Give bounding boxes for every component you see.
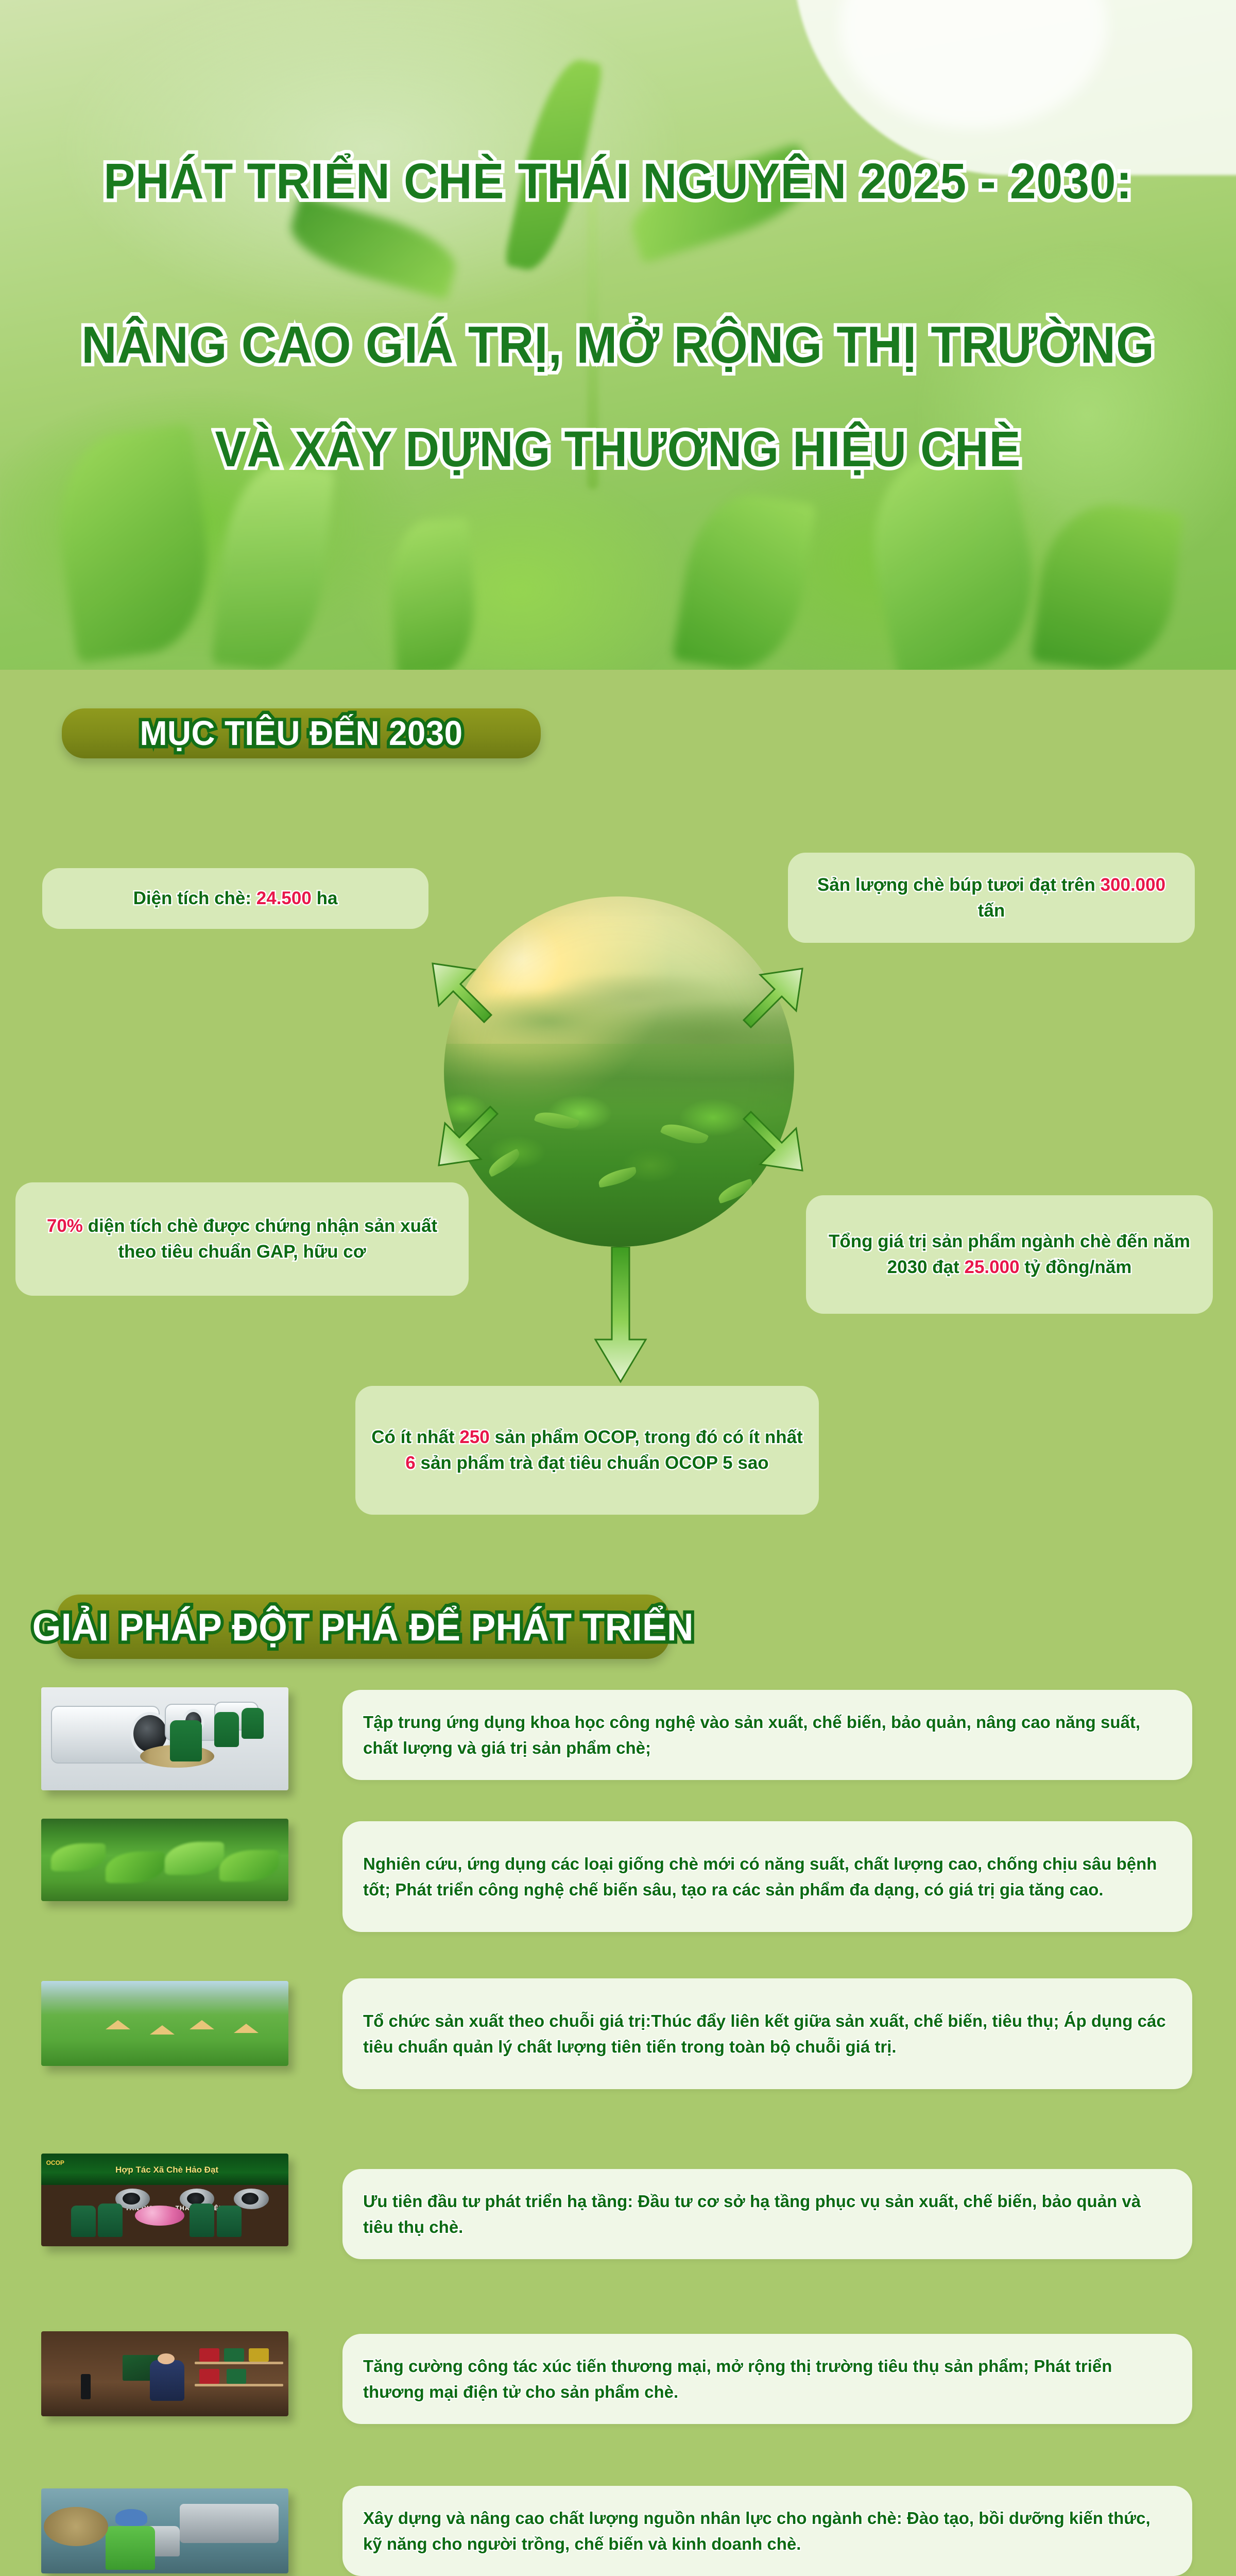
solution-card: Xây dựng và nâng cao chất lượng nguồn nh… — [342, 2486, 1192, 2576]
solution-text: Xây dựng và nâng cao chất lượng nguồn nh… — [363, 2505, 1172, 2556]
factory-worker — [214, 1712, 239, 1747]
solution-text: Tổ chức sản xuất theo chuỗi giá trị:Thúc… — [363, 2008, 1172, 2059]
goal-card-gap-text: 70% diện tích chè được chứng nhận sản xu… — [29, 1213, 455, 1264]
tea-product-box — [227, 2369, 246, 2384]
thumb-worker-tea-processing — [41, 2488, 288, 2573]
goal-card-ocop: Có ít nhất 250 sản phẩm OCOP, trong đó c… — [355, 1386, 819, 1515]
coop-worker — [98, 2204, 123, 2237]
coop-worker — [217, 2206, 242, 2237]
hero-title-line-2: NÂNG CAO GIÁ TRỊ, MỞ RỘNG THỊ TRƯỜNG — [37, 316, 1199, 375]
processing-machine — [180, 2504, 279, 2543]
conical-hat — [190, 2020, 214, 2029]
thumb-livestream-tea-shop — [41, 2331, 288, 2416]
cooperative-photo: OCOP Hợp Tác Xã Chè Hảo Đạt TÂN CƯƠNG - … — [41, 2154, 288, 2246]
factory-worker — [170, 1720, 202, 1761]
harvesting-photo — [41, 1981, 288, 2066]
goal-card-ocop-text: Có ít nhất 250 sản phẩm OCOP, trong đó c… — [369, 1425, 805, 1476]
hero-title-line-1: PHÁT TRIỂN CHÈ THÁI NGUYÊN 2025 - 2030: — [37, 152, 1199, 210]
tea-product-box — [199, 2369, 219, 2384]
goal-card-value-text: Tổng giá trị sản phẩm ngành chè đến năm … — [819, 1229, 1199, 1280]
goal-card-output: Sản lượng chè búp tươi đạt trên 300.000 … — [788, 853, 1195, 943]
livestream-photo — [41, 2331, 288, 2416]
processing-photo — [41, 2488, 288, 2573]
arrow-down-icon — [592, 1247, 649, 1386]
solution-text: Tăng cường công tác xúc tiến thương mại,… — [363, 2353, 1172, 2404]
camera-tripod — [81, 2374, 91, 2400]
conical-hat — [150, 2025, 175, 2035]
pot-opening — [242, 2193, 259, 2205]
tea-foliage — [219, 1850, 279, 1882]
tea-foliage — [106, 1852, 165, 1883]
solutions-section-banner: GIẢI PHÁP ĐỘT PHÁ ĐỂ PHÁT TRIỂN — [57, 1595, 669, 1659]
pot-opening — [187, 2193, 204, 2205]
plantation-photo — [41, 1819, 288, 1901]
arrow-up-left-icon — [385, 917, 499, 1025]
factory-worker — [242, 1708, 264, 1739]
goal-card-area-text: Diện tích chè: 24.500 ha — [133, 886, 338, 911]
solution-text: Nghiên cứu, ứng dụng các loại giống chè … — [363, 1851, 1172, 1902]
product-shelf — [195, 2362, 284, 2364]
factory-photo — [41, 1687, 288, 1790]
goal-card-value: Tổng giá trị sản phẩm ngành chè đến năm … — [806, 1195, 1213, 1314]
goals-section-banner: MỤC TIÊU ĐẾN 2030 — [62, 708, 541, 758]
tea-product-box — [199, 2348, 219, 2362]
goal-card-output-text: Sản lượng chè búp tươi đạt trên 300.000 … — [801, 872, 1181, 923]
ocop-badge: OCOP — [46, 2159, 64, 2166]
conical-hat — [106, 2020, 130, 2029]
hero-banner: PHÁT TRIỂN CHÈ THÁI NGUYÊN 2025 - 2030: … — [0, 0, 1236, 670]
product-shelf — [195, 2384, 284, 2386]
solutions-banner-label: GIẢI PHÁP ĐỘT PHÁ ĐỂ PHÁT TRIỂN — [32, 1605, 694, 1649]
solution-text: Tập trung ứng dụng khoa học công nghệ và… — [363, 1709, 1172, 1760]
tea-foliage — [51, 1843, 106, 1871]
tea-product-box — [224, 2348, 244, 2362]
conical-hat — [234, 2024, 259, 2033]
goal-card-area: Diện tích chè: 24.500 ha — [42, 868, 428, 929]
infographic-page: PHÁT TRIỂN CHÈ THÁI NGUYÊN 2025 - 2030: … — [0, 0, 1236, 2576]
solution-card: Tăng cường công tác xúc tiến thương mại,… — [342, 2334, 1192, 2424]
thumb-cooperative-hao-dat: OCOP Hợp Tác Xã Chè Hảo Đạt TÂN CƯƠNG - … — [41, 2154, 288, 2246]
solution-card: Ưu tiên đầu tư phát triển hạ tầng: Đầu t… — [342, 2169, 1192, 2259]
goals-banner-label: MỤC TIÊU ĐẾN 2030 — [140, 714, 462, 753]
hero-title-line-3: VÀ XÂY DỰNG THƯƠNG HIỆU CHÈ — [37, 420, 1199, 478]
solution-text: Ưu tiên đầu tư phát triển hạ tầng: Đầu t… — [363, 2189, 1172, 2240]
hero-title-group: PHÁT TRIỂN CHÈ THÁI NGUYÊN 2025 - 2030: … — [0, 0, 1236, 478]
thumb-tea-plantation-closeup — [41, 1819, 288, 1901]
thumb-tea-processing-factory — [41, 1687, 288, 1790]
goal-card-gap: 70% diện tích chè được chứng nhận sản xu… — [15, 1182, 469, 1296]
tea-product-box — [249, 2348, 268, 2362]
lotus-flowers — [135, 2206, 184, 2226]
coop-worker — [71, 2206, 96, 2237]
processing-worker — [106, 2526, 155, 2570]
pot-opening — [123, 2193, 140, 2205]
cooperative-sign-title: Hợp Tác Xã Chè Hảo Đạt — [115, 2165, 218, 2175]
tea-foliage — [165, 1842, 224, 1875]
bamboo-tray — [44, 2507, 108, 2546]
solution-card: Tổ chức sản xuất theo chuỗi giá trị:Thúc… — [342, 1978, 1192, 2089]
coop-worker — [190, 2204, 214, 2237]
solution-card: Nghiên cứu, ứng dụng các loại giống chè … — [342, 1821, 1192, 1932]
solution-card: Tập trung ứng dụng khoa học công nghệ và… — [342, 1690, 1192, 1780]
thumb-tea-harvesting-field — [41, 1981, 288, 2066]
presenter — [150, 2360, 184, 2401]
hair-cap — [115, 2509, 147, 2526]
